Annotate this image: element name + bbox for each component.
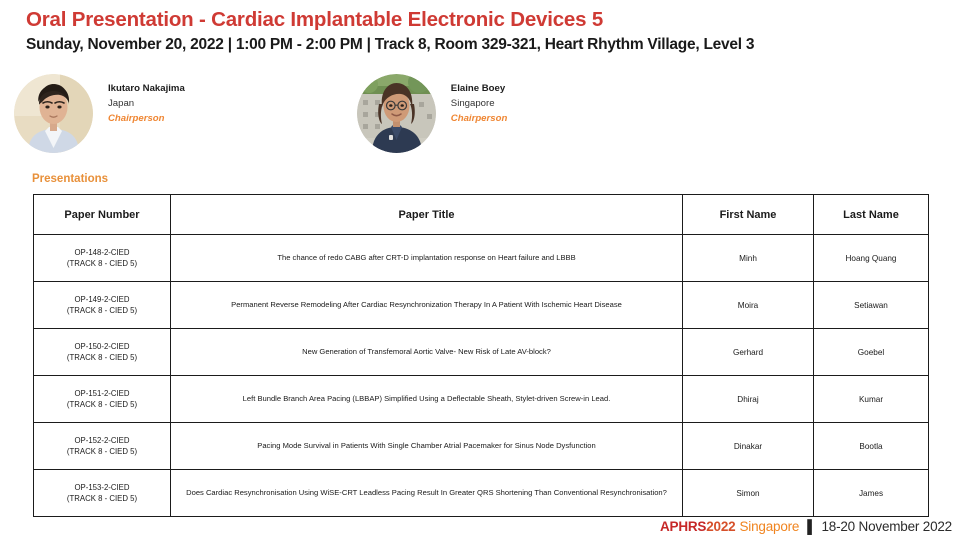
chairperson-card-1: Ikutaro Nakajima Japan Chairperson (14, 74, 185, 153)
chairperson-name: Elaine Boey (451, 82, 508, 97)
table-row: OP-149-2-CIED (TRACK 8 - CIED 5) Permane… (34, 282, 929, 329)
chairperson-list: Ikutaro Nakajima Japan Chairperson (14, 74, 507, 153)
brand-year-text: 2022 (706, 519, 735, 534)
chairperson-card-2: Elaine Boey Singapore Chairperson (357, 74, 508, 153)
cell-first-name: Dhiraj (683, 376, 814, 423)
table-row: OP-152-2-CIED (TRACK 8 - CIED 5) Pacing … (34, 423, 929, 470)
paper-track: (TRACK 8 - CIED 5) (40, 493, 164, 504)
cell-last-name: Kumar (814, 376, 929, 423)
cell-first-name: Simon (683, 470, 814, 517)
cell-last-name: James (814, 470, 929, 517)
cell-first-name: Dinakar (683, 423, 814, 470)
cell-paper-title: Does Cardiac Resynchronisation Using WiS… (171, 470, 683, 517)
paper-track: (TRACK 8 - CIED 5) (40, 258, 164, 269)
column-header-last-name: Last Name (814, 195, 929, 235)
cell-paper-number: OP-151-2-CIED (TRACK 8 - CIED 5) (34, 376, 171, 423)
slide-page: Oral Presentation - Cardiac Implantable … (0, 0, 960, 540)
paper-track: (TRACK 8 - CIED 5) (40, 305, 164, 316)
paper-code: OP-149-2-CIED (40, 294, 164, 305)
paper-code: OP-148-2-CIED (40, 247, 164, 258)
vertical-bar-icon: ▌ (807, 519, 816, 534)
paper-code: OP-153-2-CIED (40, 482, 164, 493)
table-row: OP-150-2-CIED (TRACK 8 - CIED 5) New Gen… (34, 329, 929, 376)
column-header-first-name: First Name (683, 195, 814, 235)
cell-first-name: Minh (683, 235, 814, 282)
cell-last-name: Hoang Quang (814, 235, 929, 282)
footer-date-text: 18-20 November 2022 (821, 519, 952, 534)
paper-track: (TRACK 8 - CIED 5) (40, 399, 164, 410)
brand-city-text: Singapore (739, 519, 799, 534)
cell-paper-title: Pacing Mode Survival in Patients With Si… (171, 423, 683, 470)
cell-last-name: Setiawan (814, 282, 929, 329)
chairperson-info: Elaine Boey Singapore Chairperson (451, 74, 508, 127)
chairperson-info: Ikutaro Nakajima Japan Chairperson (108, 74, 185, 127)
avatar (14, 74, 93, 153)
cell-paper-title: New Generation of Transfemoral Aortic Va… (171, 329, 683, 376)
cell-paper-number: OP-148-2-CIED (TRACK 8 - CIED 5) (34, 235, 171, 282)
cell-paper-title: Permanent Reverse Remodeling After Cardi… (171, 282, 683, 329)
brand-aphrs-text: APHRS (660, 519, 706, 534)
table-row: OP-151-2-CIED (TRACK 8 - CIED 5) Left Bu… (34, 376, 929, 423)
cell-paper-number: OP-150-2-CIED (TRACK 8 - CIED 5) (34, 329, 171, 376)
page-title: Oral Presentation - Cardiac Implantable … (26, 8, 603, 32)
chairperson-country: Japan (108, 97, 185, 112)
cell-paper-title: Left Bundle Branch Area Pacing (LBBAP) S… (171, 376, 683, 423)
chairperson-role: Chairperson (108, 112, 185, 127)
chairperson-country: Singapore (451, 97, 508, 112)
paper-track: (TRACK 8 - CIED 5) (40, 446, 164, 457)
section-label-presentations: Presentations (32, 173, 108, 185)
avatar (357, 74, 436, 153)
cell-first-name: Moira (683, 282, 814, 329)
chairperson-name: Ikutaro Nakajima (108, 82, 185, 97)
session-schedule-text: Sunday, November 20, 2022 | 1:00 PM - 2:… (26, 36, 754, 54)
chairperson-role: Chairperson (451, 112, 508, 127)
cell-paper-number: OP-153-2-CIED (TRACK 8 - CIED 5) (34, 470, 171, 517)
cell-paper-title: The chance of redo CABG after CRT-D impl… (171, 235, 683, 282)
column-header-paper-number: Paper Number (34, 195, 171, 235)
table-row: OP-148-2-CIED (TRACK 8 - CIED 5) The cha… (34, 235, 929, 282)
cell-paper-number: OP-149-2-CIED (TRACK 8 - CIED 5) (34, 282, 171, 329)
cell-last-name: Bootla (814, 423, 929, 470)
paper-code: OP-150-2-CIED (40, 341, 164, 352)
cell-first-name: Gerhard (683, 329, 814, 376)
table-row: OP-153-2-CIED (TRACK 8 - CIED 5) Does Ca… (34, 470, 929, 517)
paper-track: (TRACK 8 - CIED 5) (40, 352, 164, 363)
footer-branding: APHRS 2022 Singapore ▌ 18-20 November 20… (660, 519, 952, 534)
column-header-paper-title: Paper Title (171, 195, 683, 235)
table-header-row: Paper Number Paper Title First Name Last… (34, 195, 929, 235)
paper-code: OP-152-2-CIED (40, 435, 164, 446)
cell-last-name: Goebel (814, 329, 929, 376)
cell-paper-number: OP-152-2-CIED (TRACK 8 - CIED 5) (34, 423, 171, 470)
paper-code: OP-151-2-CIED (40, 388, 164, 399)
presentations-table: Paper Number Paper Title First Name Last… (33, 194, 929, 517)
